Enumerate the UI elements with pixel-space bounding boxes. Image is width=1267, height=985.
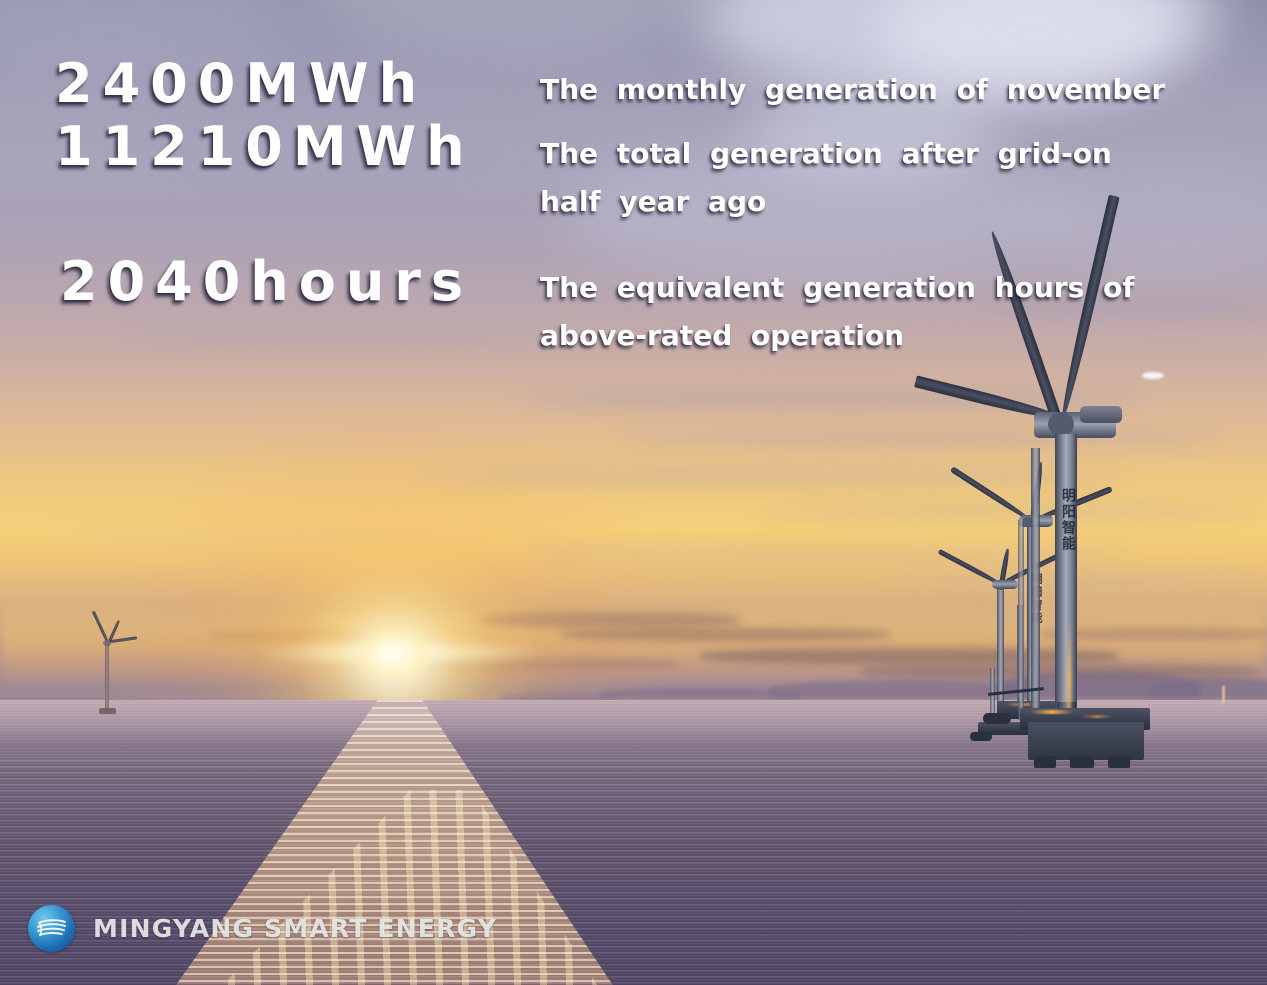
stat-value-hours: 2040hours xyxy=(60,250,473,313)
globe-swoosh-icon xyxy=(28,905,75,952)
stat-value-monthly: 2400MWh xyxy=(55,52,427,115)
brand-wordmark: MINGYANG SMART ENERGY xyxy=(93,914,497,943)
stat-desc-total-line1: The total generation after grid-on xyxy=(540,132,1112,176)
stat-value-total: 11210MWh xyxy=(55,115,475,178)
tower-brand-label: 明阳智能 xyxy=(1059,488,1079,552)
stat-desc-monthly: The monthly generation of november xyxy=(540,68,1165,112)
stat-desc-total-line2: half year ago xyxy=(540,180,766,224)
sky-speck xyxy=(1142,372,1164,379)
distant-beacon xyxy=(1222,686,1225,704)
photo-scene: 明阳智能 明阳智能 xyxy=(0,0,1267,985)
stat-desc-hours-line2: above-rated operation xyxy=(540,314,904,358)
brand-logo: MINGYANG SMART ENERGY xyxy=(28,905,497,952)
wind-turbine-icon xyxy=(82,612,142,712)
stat-desc-hours-line1: The equivalent generation hours of xyxy=(540,266,1134,310)
sun-icon xyxy=(350,625,436,683)
